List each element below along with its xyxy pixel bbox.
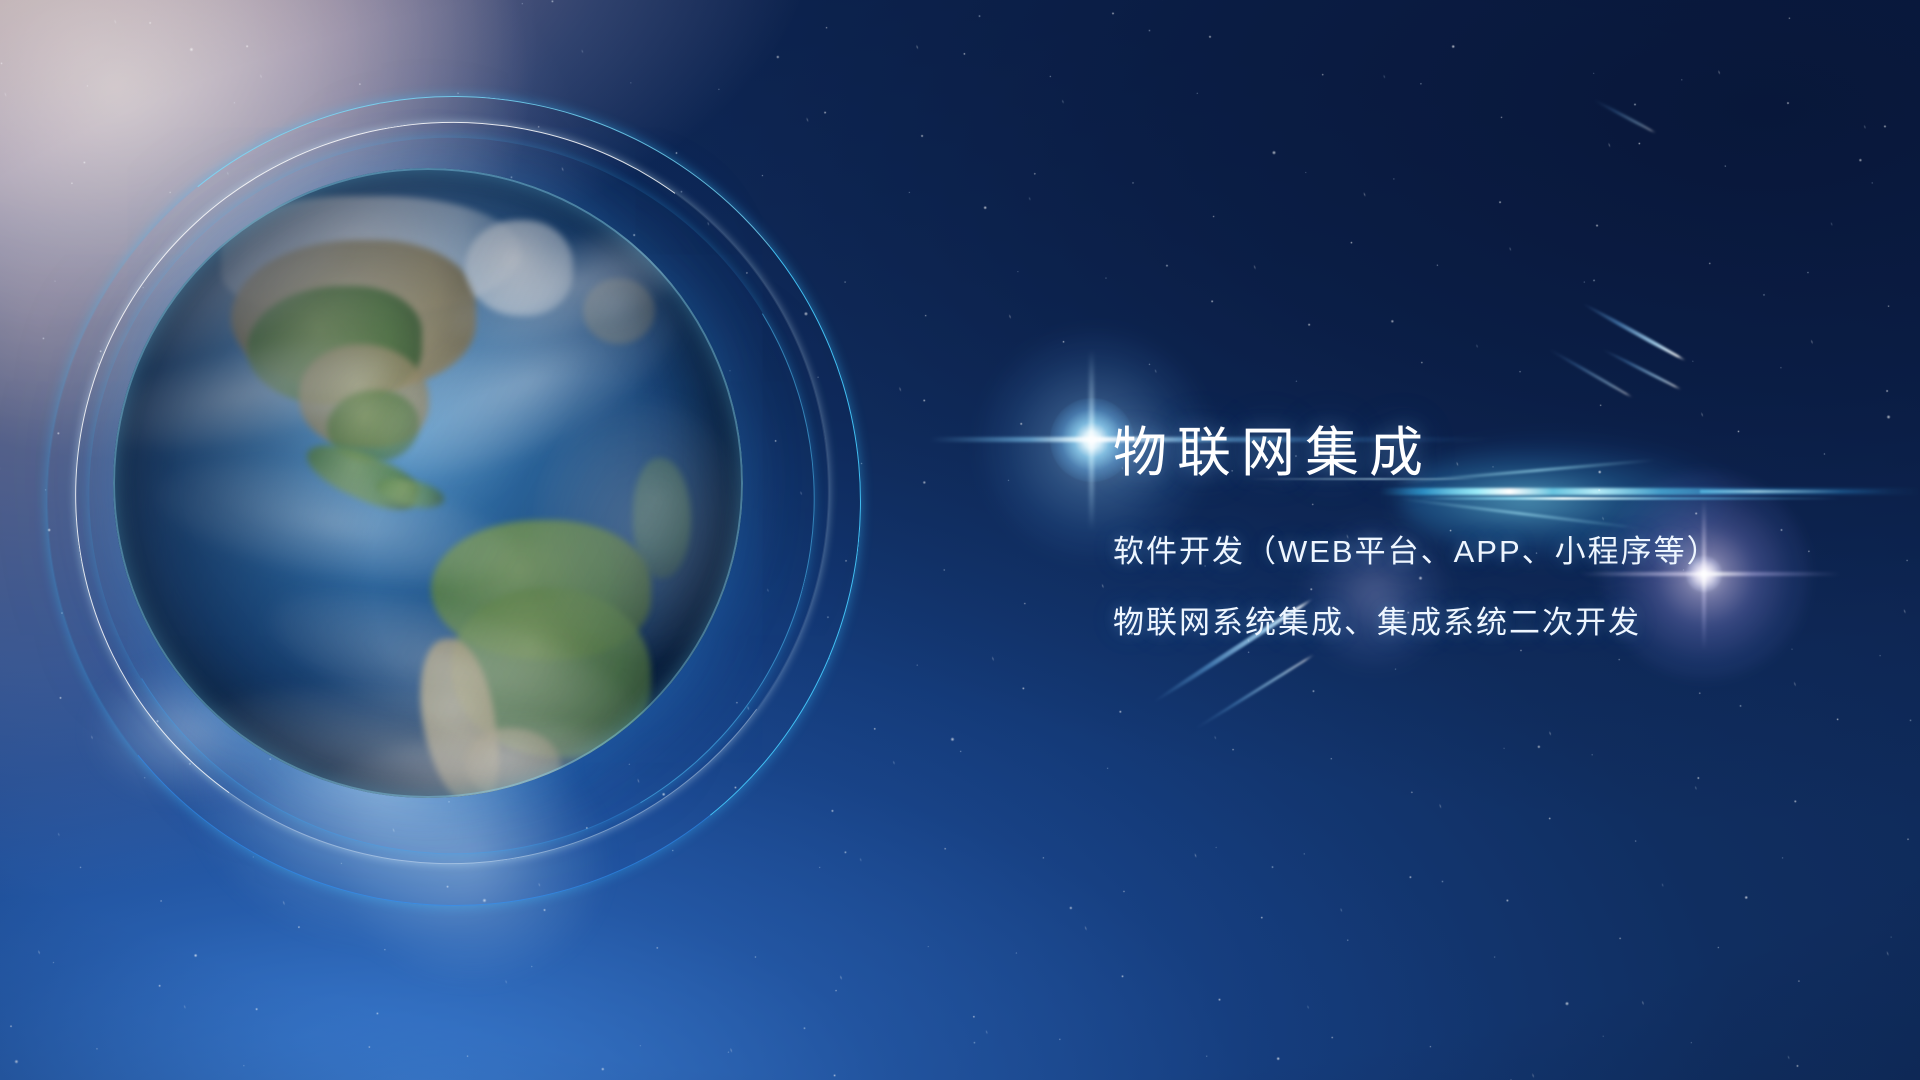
banner-subtitle-1: 软件开发（WEB平台、APP、小程序等） (1113, 526, 1720, 571)
banner-copy: 物联网集成 软件开发（WEB平台、APP、小程序等） 物联网系统集成、集成系统二… (1113, 424, 1720, 642)
meteor-streak-icon (1593, 99, 1656, 135)
meteor-streak-icon (1549, 348, 1634, 399)
meteor-streak-icon (1581, 302, 1686, 363)
page-title: 物联网集成 (1113, 424, 1720, 482)
earth-globe (113, 168, 743, 798)
banner-subtitle-2: 物联网系统集成、集成系统二次开发 (1113, 597, 1720, 642)
iot-integration-banner: 物联网集成 软件开发（WEB平台、APP、小程序等） 物联网系统集成、集成系统二… (0, 0, 1920, 1080)
